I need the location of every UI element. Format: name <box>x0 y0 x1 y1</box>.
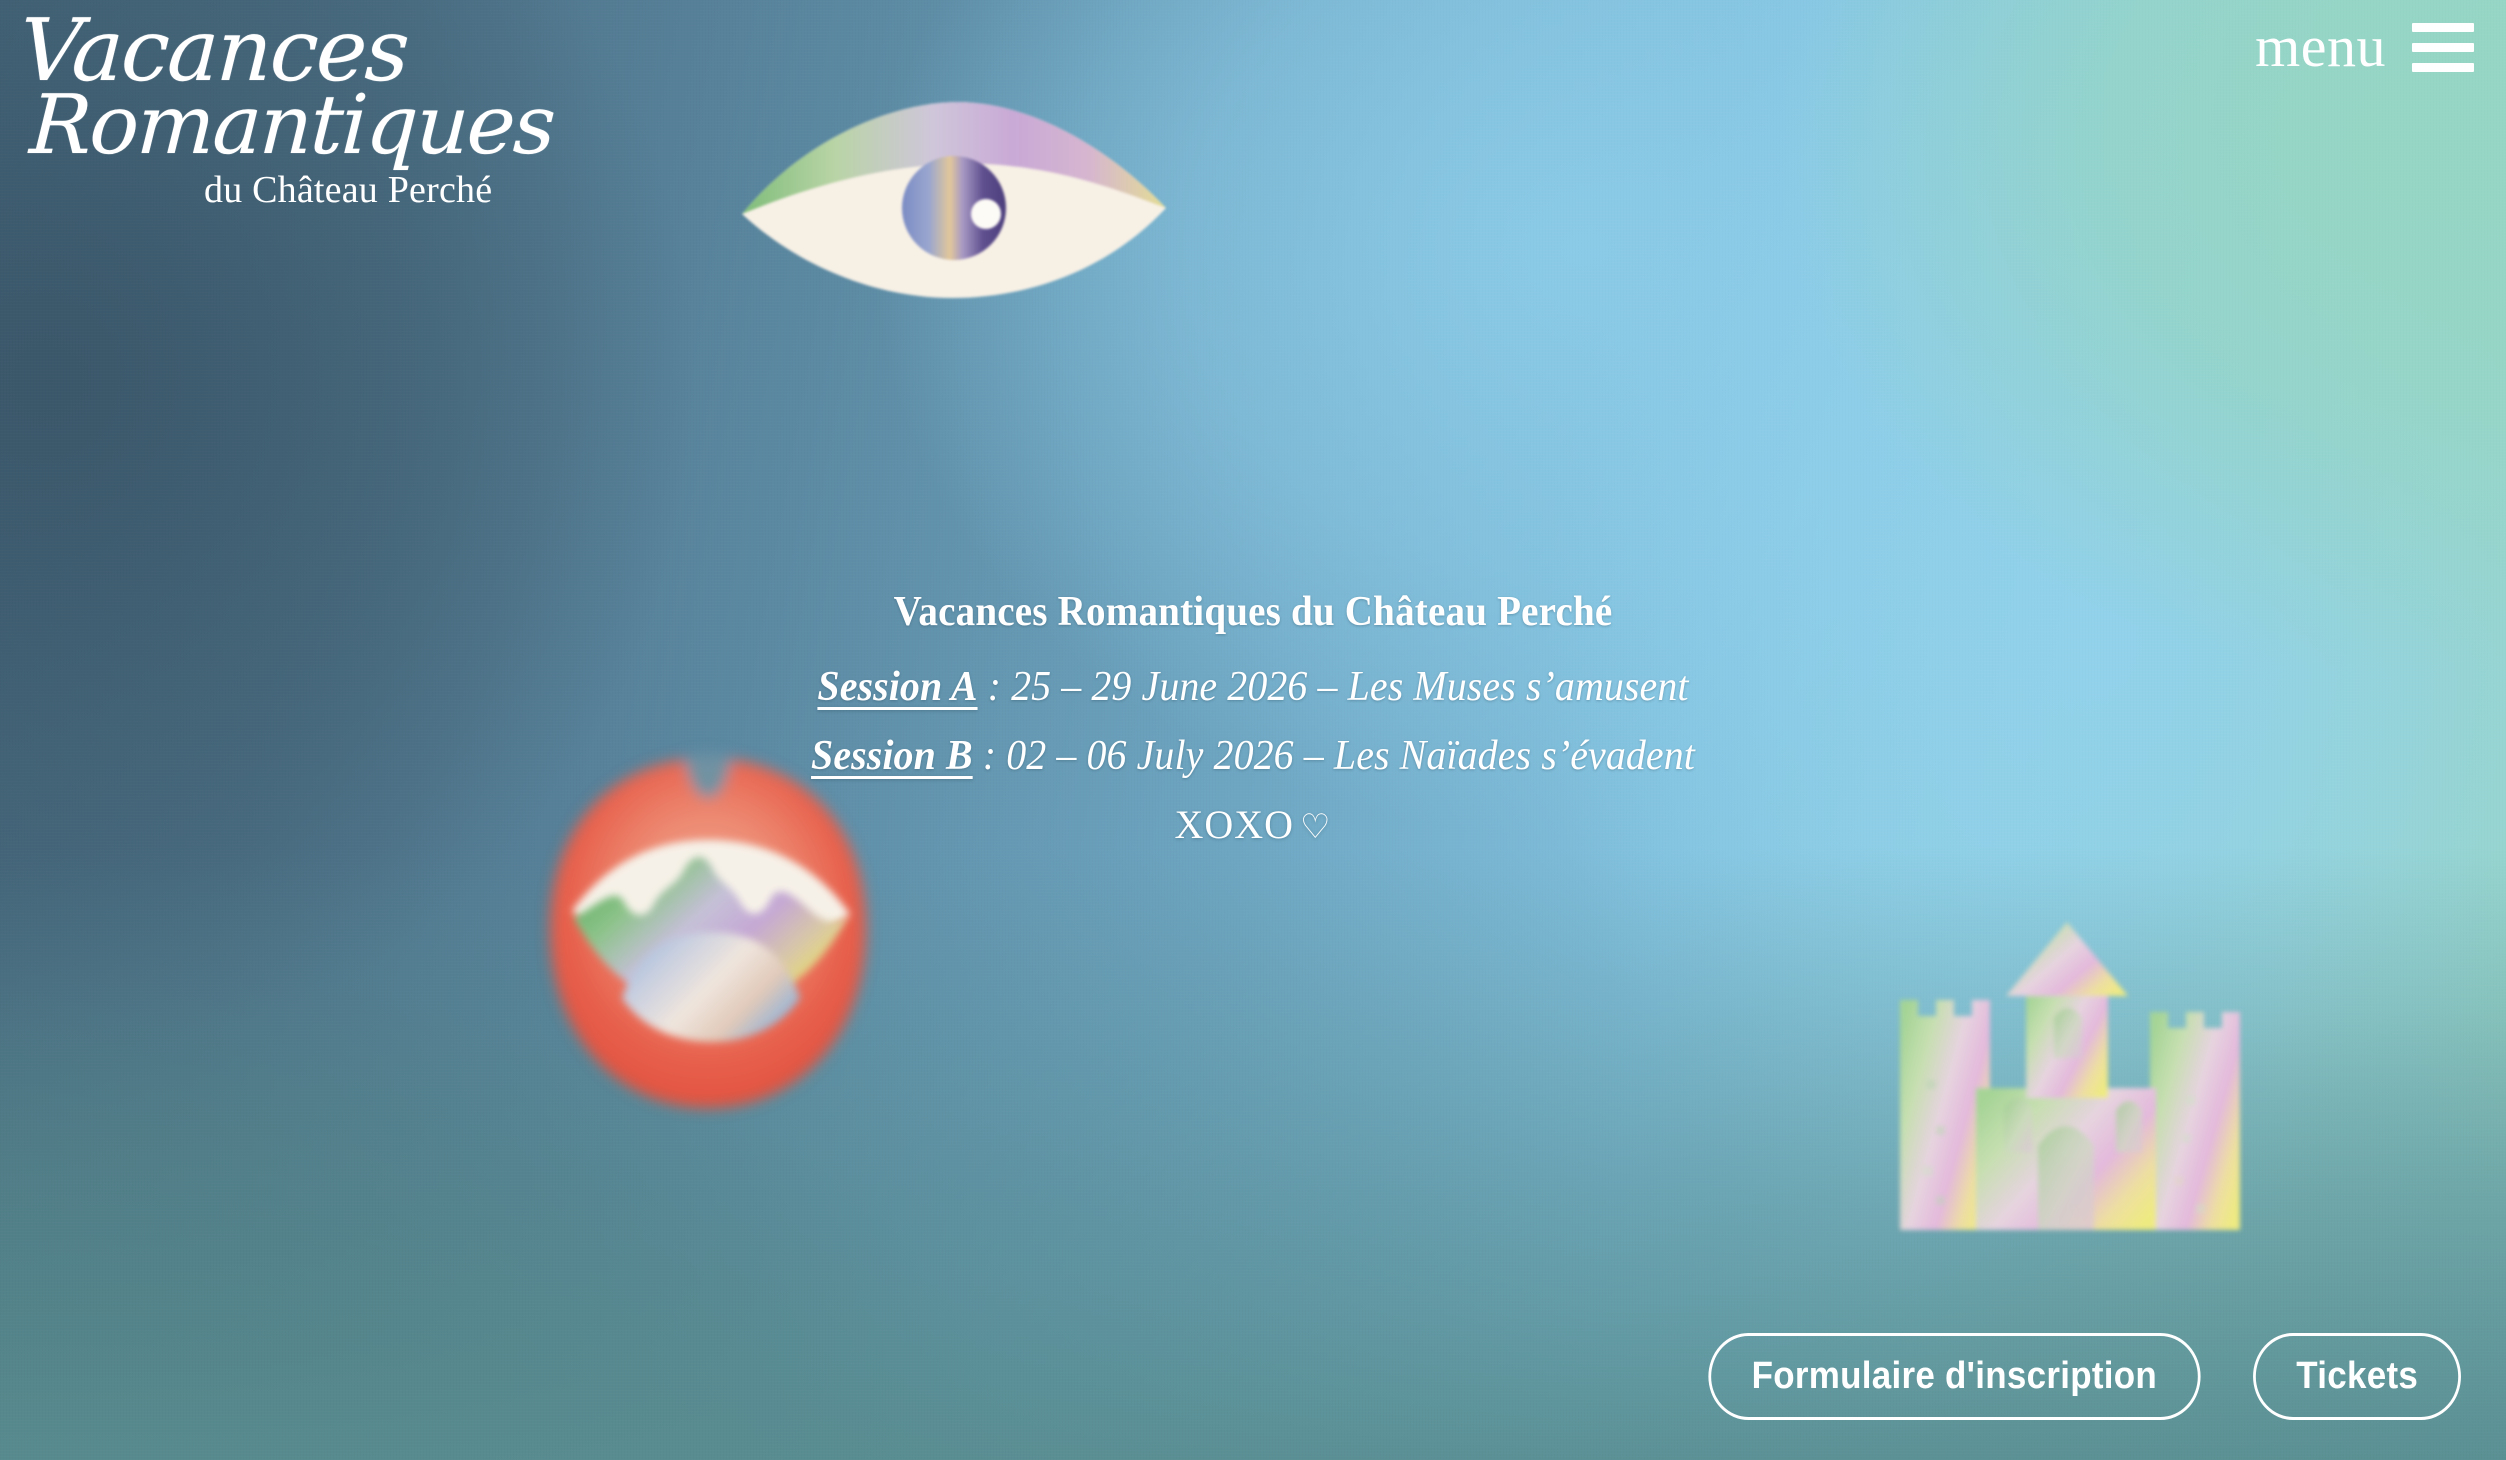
castle-right-tower <box>2150 1012 2240 1230</box>
registration-form-button[interactable]: Formulaire d'inscription <box>1708 1333 2200 1420</box>
castle-gate <box>2038 1126 2094 1230</box>
site-logo[interactable]: Vacances Romantiques du Château Perché <box>18 14 558 212</box>
hero-title: Vacances Romantiques du Château Perché <box>88 588 2419 636</box>
session-a-label[interactable]: Session A <box>817 664 977 710</box>
castle-window-left <box>2004 1098 2032 1152</box>
logo-script-wordmark: Vacances Romantiques <box>14 14 562 162</box>
session-b-label[interactable]: Session B <box>811 733 973 779</box>
castle-icon <box>1878 908 2250 1246</box>
heart-icon: ♡ <box>1300 809 1331 846</box>
castle-roof <box>2006 922 2128 996</box>
session-a-details: : 25 – 29 June 2026 – Les Muses s’amusen… <box>978 664 1689 710</box>
castle-tower-window <box>2054 1008 2082 1058</box>
hamburger-bar-2 <box>2412 43 2474 52</box>
menu-label: menu <box>2255 18 2386 76</box>
hamburger-bar-1 <box>2412 23 2474 32</box>
session-line-b: Session B : 02 – 06 July 2026 – Les Naïa… <box>63 732 2444 780</box>
hamburger-bar-3 <box>2412 63 2474 72</box>
hero-text-block: Vacances Romantiques du Château Perché S… <box>0 588 2506 848</box>
tickets-button[interactable]: Tickets <box>2253 1333 2461 1420</box>
logo-subtitle: du Château Perché <box>204 168 558 212</box>
signoff-text: XOXO <box>1174 802 1294 847</box>
signoff: XOXO♡ <box>0 801 2506 848</box>
eye-highlight <box>971 199 1001 229</box>
eye-icon <box>736 96 1172 304</box>
hamburger-icon[interactable] <box>2412 19 2474 76</box>
session-b-details: : 02 – 06 July 2026 – Les Naïades s’évad… <box>973 733 1695 779</box>
logo-line-2: Romantiques <box>28 90 558 162</box>
cta-button-row: Formulaire d'inscription Tickets <box>1687 1333 2470 1420</box>
session-line-a: Session A : 25 – 29 June 2026 – Les Muse… <box>63 663 2444 711</box>
castle-window-right <box>2116 1101 2142 1152</box>
hero-stage: Vacances Romantiques du Château Perché m… <box>0 0 2506 1460</box>
menu-button[interactable]: menu <box>2255 18 2474 76</box>
